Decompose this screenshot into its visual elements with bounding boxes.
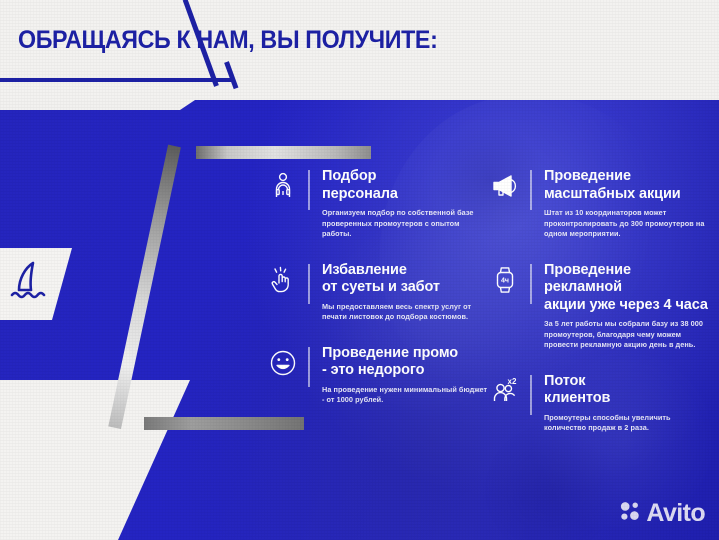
feature-title-line1: Подбор <box>322 168 488 186</box>
feature-description: Мы предоставляем весь спектр услуг от пе… <box>308 302 488 323</box>
avito-wordmark: Avito <box>646 499 705 528</box>
feature-description: За 5 лет работы мы собрали базу из 38 00… <box>530 319 710 351</box>
avito-dots-icon <box>619 500 641 527</box>
svg-text:x2: x2 <box>508 377 517 386</box>
feature-title-line2: - это недорого <box>322 362 488 380</box>
feature-title-line1: Избавление <box>322 262 488 280</box>
feature-description: Промоутеры способны увеличить количество… <box>530 413 710 434</box>
feature-title-line1: Поток <box>544 373 710 391</box>
promo-banner: ОБРАЩАЯСЬ К НАМ, ВЫ ПОЛУЧИТЕ: <box>0 0 719 540</box>
feature-card: Проведение промо - это недорого На прове… <box>268 345 488 406</box>
feature-title-line1: Проведение <box>544 168 710 186</box>
feature-card: 4ч Проведение рекламной акции уже через … <box>490 262 710 351</box>
feature-card: Проведение масштабных акции Штат из 10 к… <box>490 168 710 240</box>
feature-description: Штат из 10 координаторов может проконтро… <box>530 208 710 240</box>
feature-card: Подбор персонала Организуем подбор по со… <box>268 168 488 240</box>
avito-watermark: Avito <box>619 499 705 528</box>
feature-title-line1: Проведение промо <box>322 345 488 363</box>
two-people-x2-icon: x2 <box>490 376 520 406</box>
feature-title-line2: от суеты и забот <box>322 279 488 297</box>
features-column-right: Проведение масштабных акции Штат из 10 к… <box>490 168 710 451</box>
svg-text:4ч: 4ч <box>501 277 509 284</box>
feature-title-line1: Проведение рекламной <box>544 262 710 297</box>
feature-card: Избавление от суеты и забот Мы предостав… <box>268 262 488 323</box>
silver-bracket-top <box>196 146 371 159</box>
megaphone-icon <box>490 171 520 201</box>
feature-title-line2: масштабных акции <box>544 186 710 204</box>
page-title: ОБРАЩАЯСЬ К НАМ, ВЫ ПОЛУЧИТЕ: <box>18 26 437 55</box>
feature-title-line2: акции уже через 4 часа <box>544 297 710 315</box>
features-column-left: Подбор персонала Организуем подбор по со… <box>268 168 488 423</box>
feature-title-line2: клиентов <box>544 390 710 408</box>
smiley-face-icon <box>268 348 298 378</box>
feature-card: x2 Поток клиентов Промоутеры способны ув… <box>490 373 710 434</box>
feature-title-line2: персонала <box>322 186 488 204</box>
header-band: ОБРАЩАЯСЬ К НАМ, ВЫ ПОЛУЧИТЕ: <box>0 0 719 100</box>
shark-fin-icon <box>0 261 53 308</box>
header-rule <box>0 78 232 82</box>
feature-description: Организуем подбор по собственной базе пр… <box>308 208 488 240</box>
feature-description: На проведение нужен минимальный бюджет -… <box>308 385 488 406</box>
tap-hand-icon <box>268 265 298 295</box>
smartwatch-4h-icon: 4ч <box>490 265 520 295</box>
person-headset-icon <box>268 171 298 201</box>
